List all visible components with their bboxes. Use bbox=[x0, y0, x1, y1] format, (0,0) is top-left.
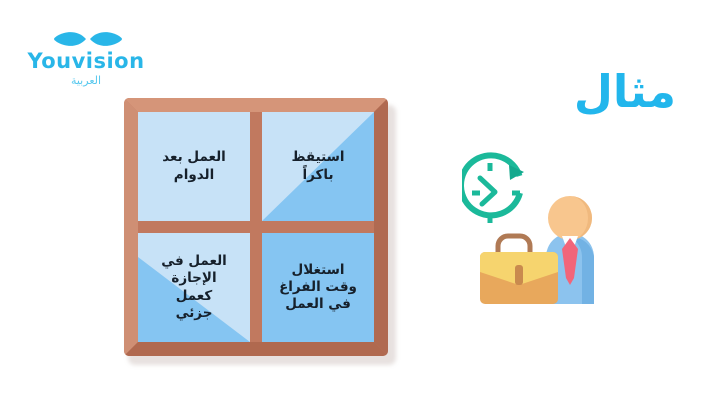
brand-logo: Youvision العربية bbox=[24, 28, 148, 86]
slide-canvas: Youvision العربية مثال العمل بعد الدوام … bbox=[0, 0, 720, 409]
clock-icon bbox=[462, 155, 524, 223]
window-graphic: العمل بعد الدوام استيقظ باكراً العمل في … bbox=[124, 98, 396, 362]
window-pane-bottom-right: استغلال وقت الفراغ في العمل bbox=[262, 233, 374, 342]
brand-name: Youvision bbox=[24, 51, 148, 72]
pane-label-bottom-right: استغلال وقت الفراغ في العمل bbox=[275, 262, 361, 314]
pane-label-top-left: العمل بعد الدوام bbox=[158, 149, 230, 184]
two-eyes-mark-icon bbox=[24, 28, 148, 50]
frame-bevel-left bbox=[124, 98, 138, 356]
pane-label-top-right: استيقظ باكراً bbox=[287, 149, 348, 184]
window-pane-bottom-left: العمل في الإجازة كعمل جزئي bbox=[138, 233, 250, 342]
brand-name-arabic: العربية bbox=[24, 75, 148, 86]
pane-label-bottom-left: العمل في الإجازة كعمل جزئي bbox=[157, 253, 231, 322]
window-pane-top-right: استيقظ باكراً bbox=[262, 112, 374, 221]
frame-bevel-right bbox=[374, 98, 388, 356]
window-frame: العمل بعد الدوام استيقظ باكراً العمل في … bbox=[124, 98, 388, 356]
frame-bevel-top bbox=[124, 98, 388, 112]
page-title: مثال bbox=[574, 68, 676, 115]
illustration bbox=[462, 152, 642, 312]
briefcase-icon bbox=[480, 236, 558, 304]
window-pane-top-left: العمل بعد الدوام bbox=[138, 112, 250, 221]
frame-bevel-bottom bbox=[124, 342, 388, 356]
